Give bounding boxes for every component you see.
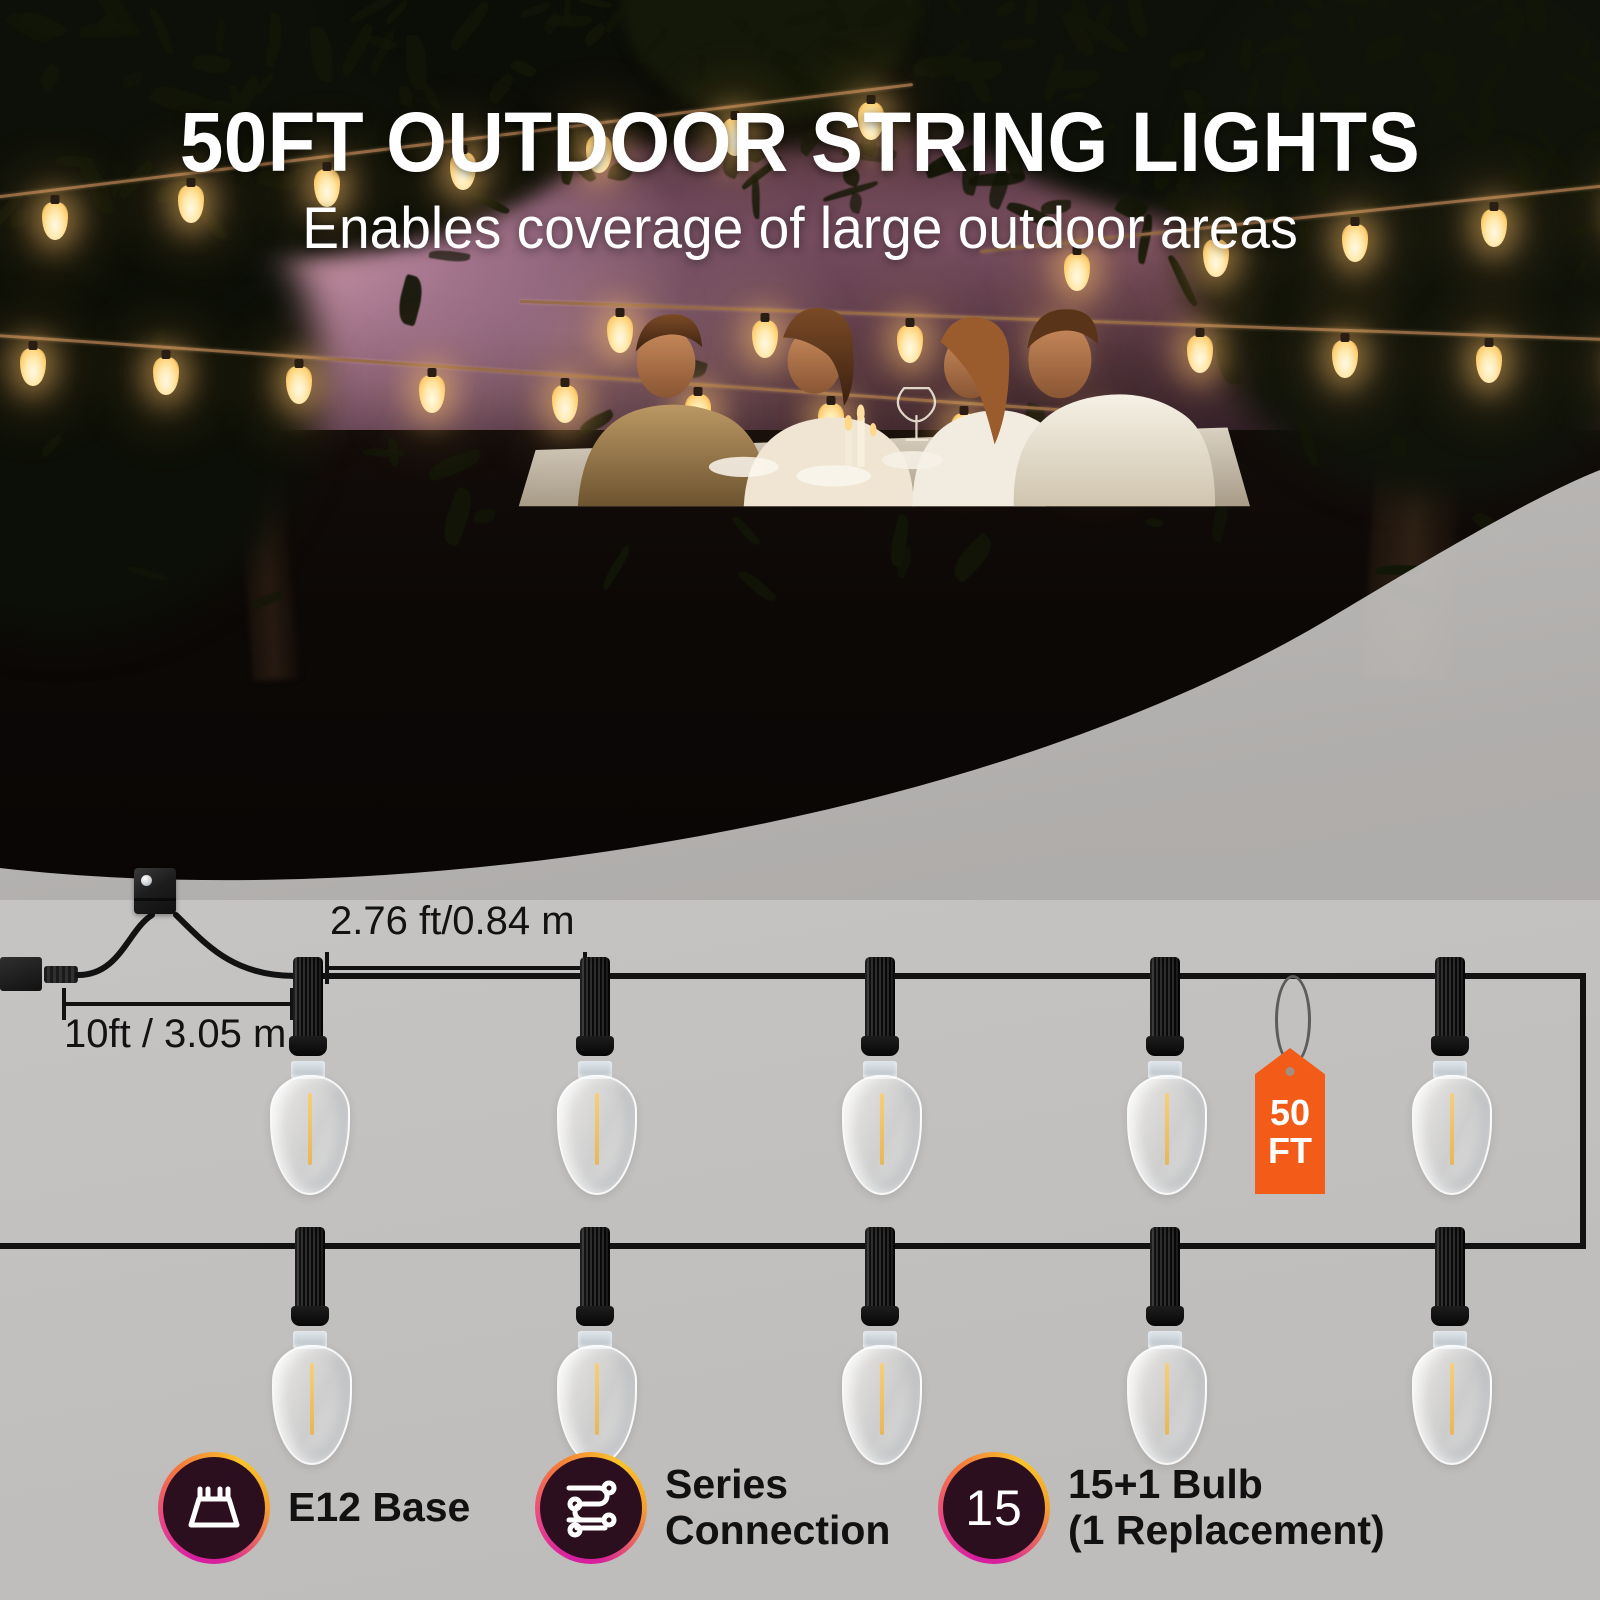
tag-line-2: FT — [1255, 1132, 1325, 1170]
feature-series-connection: Series Connection — [535, 1452, 890, 1564]
bulb-socket — [295, 1227, 325, 1313]
badge-inner — [163, 1457, 265, 1559]
feature-bulb-count: 15 15+1 Bulb (1 Replacement) — [938, 1452, 1385, 1564]
badge-ring — [158, 1452, 270, 1564]
product-infographic: 50FT OUTDOOR STRING LIGHTS Enables cover… — [0, 0, 1600, 1600]
length-tag: 50 FT — [1255, 1048, 1325, 1194]
string-wire-row-2 — [0, 1243, 1586, 1249]
socket-cap — [1146, 1306, 1184, 1326]
feature-badges: E12 Base — [0, 1436, 1600, 1586]
tag-hole-icon — [1286, 1067, 1295, 1076]
socket-cap — [289, 1036, 327, 1056]
lead-dimension-line — [62, 1002, 294, 1006]
feature-label: 15+1 Bulb (1 Replacement) — [1068, 1462, 1385, 1554]
bulb-socket — [580, 1227, 610, 1313]
socket-cap — [576, 1036, 614, 1056]
lamp-base-icon — [183, 1483, 245, 1533]
tag-line-1: 50 — [1255, 1094, 1325, 1132]
bulb-socket — [1435, 1227, 1465, 1313]
socket-cap — [1431, 1036, 1469, 1056]
socket-cap — [291, 1306, 329, 1326]
bulb-socket — [1150, 957, 1180, 1043]
socket-cap — [1146, 1036, 1184, 1056]
bulb-socket — [293, 957, 323, 1043]
series-circuit-icon — [559, 1476, 623, 1540]
socket-cap — [861, 1306, 899, 1326]
adapter-seam — [134, 898, 176, 901]
badge-ring: 15 — [938, 1452, 1050, 1564]
bulb-socket — [580, 957, 610, 1043]
lead-length-label: 10ft / 3.05 m — [64, 1012, 286, 1057]
bulb-socket — [1435, 957, 1465, 1043]
bulb-socket — [865, 957, 895, 1043]
socket-cap — [861, 1036, 899, 1056]
string-wire-right-turn — [1580, 973, 1586, 1249]
socket-cap — [1431, 1306, 1469, 1326]
string-wire-row-1 — [292, 973, 1586, 979]
bulb-socket — [865, 1227, 895, 1313]
string-light-diagram: 10ft / 3.05 m 2.76 ft/0.84 m 50 FT — [0, 0, 1600, 1600]
dimension-tick — [325, 952, 329, 984]
bulb-count-icon: 15 — [965, 1479, 1023, 1537]
badge-ring — [535, 1452, 647, 1564]
bulb-spacing-label: 2.76 ft/0.84 m — [330, 899, 575, 944]
feature-label: E12 Base — [288, 1485, 470, 1531]
feature-label: Series Connection — [665, 1462, 890, 1554]
socket-cap — [576, 1306, 614, 1326]
adapter-led-icon — [141, 875, 152, 886]
spacing-dimension-line — [325, 966, 587, 970]
badge-inner — [540, 1457, 642, 1559]
badge-inner: 15 — [943, 1457, 1045, 1559]
feature-e12-base: E12 Base — [158, 1452, 470, 1564]
power-adapter-icon — [134, 868, 176, 914]
lead-cord — [0, 0, 1600, 1600]
bulb-socket — [1150, 1227, 1180, 1313]
